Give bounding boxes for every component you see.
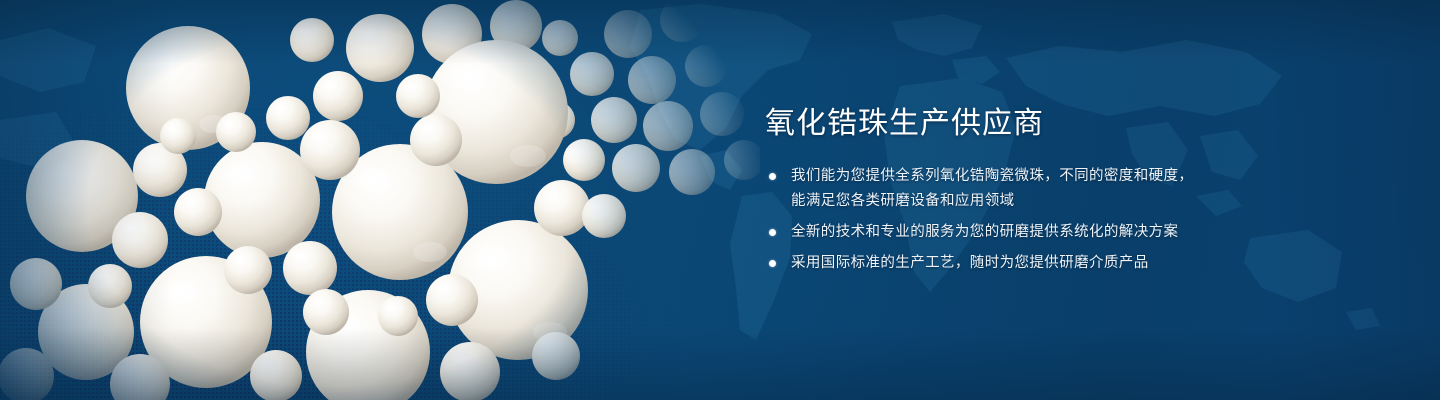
bullet-dot-icon bbox=[769, 173, 776, 180]
feature-line: 全新的技术和专业的服务为您的研磨提供系统化的解决方案 bbox=[791, 220, 1385, 245]
list-item: 采用国际标准的生产工艺，随时为您提供研磨介质产品 bbox=[765, 251, 1385, 276]
feature-list: 我们能为您提供全系列氧化锆陶瓷微珠，不同的密度和硬度， 能满足您各类研磨设备和应… bbox=[765, 164, 1385, 276]
list-item: 全新的技术和专业的服务为您的研磨提供系统化的解决方案 bbox=[765, 220, 1385, 245]
banner-text-column: 氧化锆珠生产供应商 我们能为您提供全系列氧化锆陶瓷微珠，不同的密度和硬度， 能满… bbox=[765, 104, 1385, 276]
bullet-dot-icon bbox=[769, 260, 776, 267]
hero-banner: 氧化锆珠生产供应商 我们能为您提供全系列氧化锆陶瓷微珠，不同的密度和硬度， 能满… bbox=[0, 0, 1440, 400]
feature-line: 采用国际标准的生产工艺，随时为您提供研磨介质产品 bbox=[791, 251, 1385, 276]
bullet-dot-icon bbox=[769, 229, 776, 236]
feature-line: 能满足您各类研磨设备和应用领域 bbox=[791, 189, 1385, 214]
page-title: 氧化锆珠生产供应商 bbox=[765, 104, 1385, 144]
feature-line: 我们能为您提供全系列氧化锆陶瓷微珠，不同的密度和硬度， bbox=[791, 164, 1385, 189]
list-item: 我们能为您提供全系列氧化锆陶瓷微珠，不同的密度和硬度， 能满足您各类研磨设备和应… bbox=[765, 164, 1385, 214]
